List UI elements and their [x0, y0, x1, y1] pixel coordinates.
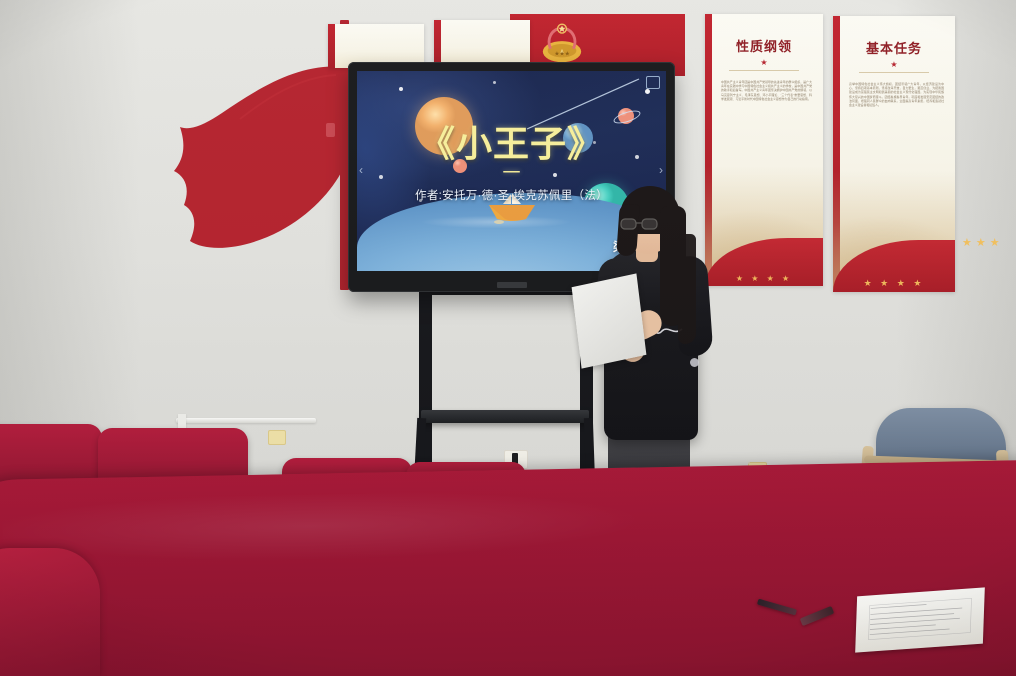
hair-strand	[678, 234, 696, 344]
poster-left-2	[434, 20, 530, 64]
svg-text:★★★: ★★★	[554, 50, 569, 57]
poster-accent-bar	[434, 20, 441, 64]
wall-stars-right: ★★★	[962, 236, 1004, 249]
poster-title: 基本任务	[833, 38, 955, 57]
table-highlight	[2, 486, 773, 579]
poster-title: 性质纲领	[705, 36, 823, 55]
poster-body-text: 高举中国特色社会主义伟大旗帜，团结带领广大青年，以经济建设为中心，坚持四项基本原…	[849, 82, 944, 180]
window-icon[interactable]	[646, 76, 660, 89]
poster-accent-bar	[328, 24, 335, 68]
star-dot	[493, 81, 496, 84]
red-flag-icon	[150, 65, 350, 280]
poster-divider	[729, 70, 799, 71]
poster-basic-tasks: 基本任务 ★ 高举中国特色社会主义伟大旗帜，团结带领广大青年，以经济建设为中心，…	[833, 16, 955, 292]
youth-league-emblem-icon: ★★★	[537, 20, 587, 66]
sleeve-patch-logo	[690, 358, 699, 367]
prev-slide-arrow-icon[interactable]: ‹	[359, 163, 363, 177]
poster-divider	[859, 72, 929, 73]
stand-shelf	[421, 410, 589, 423]
script-paper[interactable]	[572, 273, 647, 368]
red-chair-foreground[interactable]	[0, 548, 100, 676]
star-dot	[399, 87, 403, 91]
poster-star: ★	[705, 58, 823, 67]
star-dot	[645, 89, 650, 94]
wall-red-curve-right	[956, 70, 1016, 300]
worksheet-writing	[865, 596, 974, 644]
wall-socket-placeholder	[748, 462, 750, 464]
poster-footer-stars: ★ ★ ★ ★	[833, 278, 955, 289]
wall-socket-yellow[interactable]	[268, 430, 286, 445]
next-slide-arrow-icon[interactable]: ›	[659, 163, 663, 177]
classroom-photo: ★★★ 团员义务 ★ 团员权利 ★ 性质纲领 ★ 中国共产主义青年团是中国共产党…	[0, 0, 1016, 676]
poster-body-text: 中国共产主义青年团是中国共产党领导的先进青年的群众组织，是广大青年在实践中学习中…	[721, 80, 812, 172]
wall-rail	[176, 418, 316, 423]
glasses-icon	[620, 216, 664, 232]
handwritten-worksheet[interactable]	[855, 587, 985, 652]
poster-star: ★	[833, 60, 955, 69]
brand-logo	[497, 282, 527, 288]
